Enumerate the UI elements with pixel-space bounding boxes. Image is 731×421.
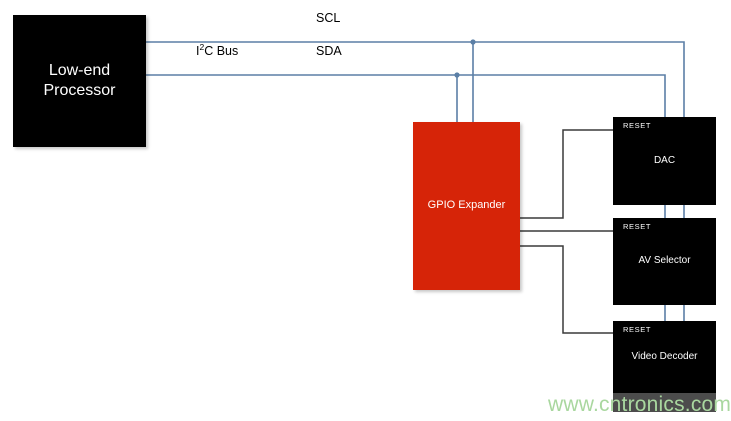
block-av-selector: RESET AV Selector (613, 218, 716, 305)
block-label-dac: DAC (654, 155, 675, 168)
block-low-end-processor: Low-end Processor (13, 15, 146, 147)
block-dac: RESET DAC (613, 117, 716, 205)
reset-tag-video-decoder: RESET (623, 325, 651, 334)
wire-label-i2c-bus: I2C Bus (196, 44, 238, 58)
diagram-canvas: Low-end Processor GPIO Expander RESET DA… (0, 0, 731, 421)
watermark: www.cntronics.com (548, 393, 731, 417)
wire-sda (146, 75, 665, 117)
block-label-av-selector: AV Selector (638, 255, 690, 268)
wire-reset-dac (520, 130, 613, 218)
block-gpio-expander: GPIO Expander (413, 122, 520, 290)
i2c-suffix: C Bus (204, 44, 238, 58)
wire-label-sda: SDA (316, 44, 342, 58)
block-video-decoder: RESET Video Decoder (613, 321, 716, 393)
reset-tag-av-selector: RESET (623, 222, 651, 231)
junction-dot-sda (454, 72, 459, 77)
block-label-processor: Low-end Processor (43, 61, 115, 101)
junction-dot-scl (470, 39, 475, 44)
reset-tag-dac: RESET (623, 121, 651, 130)
wire-reset-video-decoder (520, 246, 613, 333)
block-label-gpio-expander: GPIO Expander (428, 199, 506, 213)
wire-label-scl: SCL (316, 11, 340, 25)
block-label-video-decoder: Video Decoder (632, 351, 698, 364)
